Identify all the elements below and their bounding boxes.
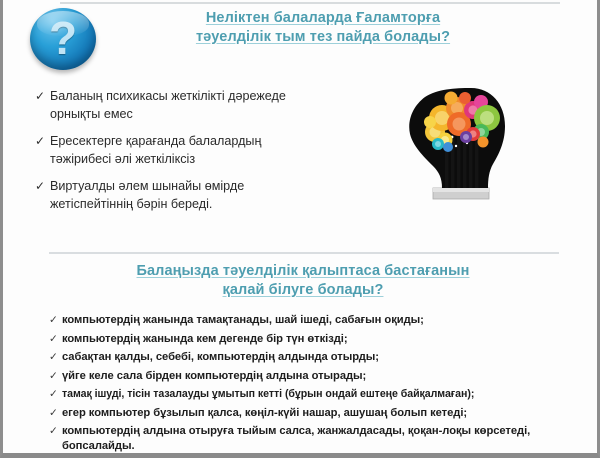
check-icon: ✓ [49, 369, 62, 384]
check-icon: ✓ [49, 313, 62, 328]
list-item-label: компьютердің жанында кем дегенде бір түн… [62, 332, 569, 347]
list-item-label: сабақтан қалды, себебі, компьютердің алд… [62, 350, 569, 365]
list-item: ✓ үйге келе сала бірден компьютердің алд… [49, 369, 569, 384]
list-item: ✓ сабақтан қалды, себебі, компьютердің а… [49, 350, 569, 365]
check-icon: ✓ [35, 88, 50, 105]
list-item-label: тамақ ішуді, тісін тазалауды ұмытып кетт… [62, 387, 569, 402]
check-icon: ✓ [49, 387, 62, 402]
section-top-heading-line2: тәуелділік тым тез пайда болады? [196, 29, 450, 45]
check-icon: ✓ [49, 406, 62, 421]
slide-frame: ? Неліктен балаларда Ғаламторға тәуелділ… [0, 0, 600, 458]
list-item-label: үйге келе сала бірден компьютердің алдын… [62, 369, 569, 384]
section-top-bullet-list: ✓ Баланың психикасы жеткілікті дәрежеде … [35, 88, 325, 223]
list-item-label: компьютердің алдына отыруға тыйым салса,… [62, 424, 569, 454]
slide-canvas: ? Неліктен балаларда Ғаламторға тәуелділ… [3, 0, 597, 453]
section-bottom-heading: Балаңызда тәуелділік қалыптаса бастағаны… [63, 262, 543, 300]
list-item-label: Виртуалды әлем шынайы өмірде жетіспейтін… [50, 178, 325, 213]
list-item: ✓ Виртуалды әлем шынайы өмірде жетіспейт… [35, 178, 325, 213]
list-item-label: компьютердің жанында тамақтанады, шай іш… [62, 313, 569, 328]
check-icon: ✓ [49, 424, 62, 439]
question-mark-glyph: ? [30, 8, 96, 70]
section-divider [49, 252, 559, 254]
list-item-label: Ересектерге қарағанда балалардың тәжіриб… [50, 133, 325, 168]
section-bottom-bullet-list: ✓ компьютердің жанында тамақтанады, шай … [49, 313, 569, 458]
check-icon: ✓ [35, 133, 50, 150]
check-icon: ✓ [35, 178, 50, 195]
list-item: ✓ тамақ ішуді, тісін тазалауды ұмытып ке… [49, 387, 569, 402]
section-bottom-heading-line2: қалай білуге болады? [223, 282, 384, 298]
list-item: ✓ Ересектерге қарағанда балалардың тәжір… [35, 133, 325, 168]
list-item-label: егер компьютер бұзылып қалса, көңіл-күйі… [62, 406, 569, 421]
section-top-heading: Неліктен балаларда Ғаламторға тәуелділік… [113, 9, 533, 47]
question-mark-icon: ? [30, 8, 96, 70]
section-top-heading-line1: Неліктен балаларда Ғаламторға [206, 10, 440, 26]
check-icon: ✓ [49, 332, 62, 347]
list-item: ✓ компьютердің жанында кем дегенде бір т… [49, 332, 569, 347]
check-icon: ✓ [49, 350, 62, 365]
list-item-label: Баланың психикасы жеткілікті дәрежеде ор… [50, 88, 325, 123]
top-rule [60, 2, 560, 4]
section-bottom-heading-line1: Балаңызда тәуелділік қалыптаса бастағаны… [136, 263, 469, 279]
list-item: ✓ компьютердің алдына отыруға тыйым салс… [49, 424, 569, 454]
list-item: ✓ компьютердің жанында тамақтанады, шай … [49, 313, 569, 328]
head-brain-svg [395, 80, 521, 200]
list-item: ✓ егер компьютер бұзылып қалса, көңіл-кү… [49, 406, 569, 421]
head-silhouette-brain-illustration [395, 80, 521, 200]
list-item: ✓ Баланың психикасы жеткілікті дәрежеде … [35, 88, 325, 123]
